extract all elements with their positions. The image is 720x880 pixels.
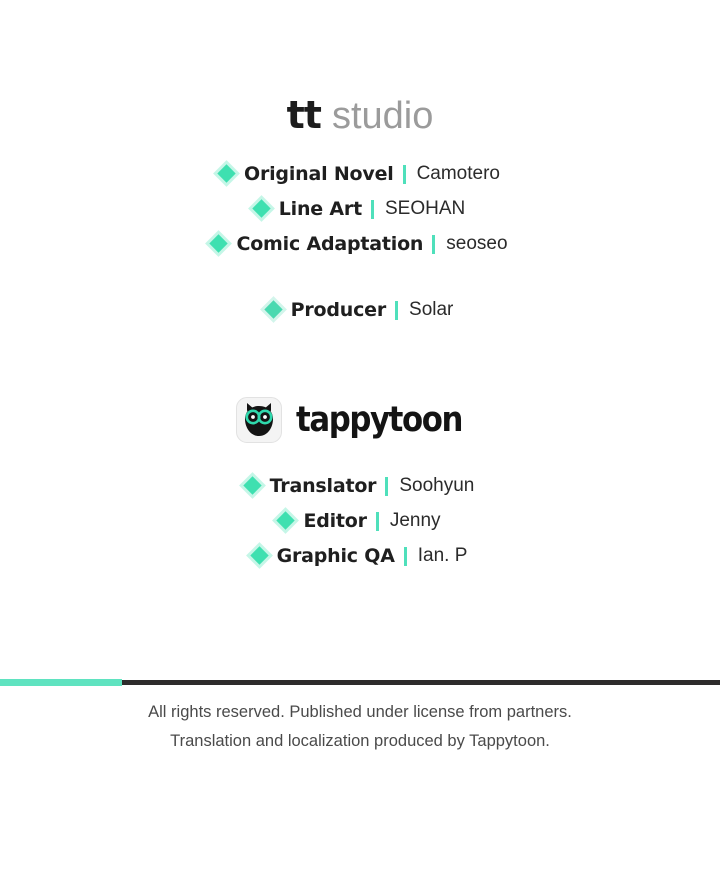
credit-person: Ian. P bbox=[418, 545, 468, 567]
credit-person: Soohyun bbox=[399, 475, 474, 497]
credits-page: tt studio Original Novel Camotero Line A… bbox=[0, 0, 720, 880]
diamond-icon bbox=[252, 199, 270, 217]
credit-separator-icon bbox=[376, 512, 379, 531]
credit-role: Graphic QA bbox=[277, 545, 395, 567]
diamond-icon bbox=[277, 511, 295, 529]
credit-row-line-art: Line Art SEOHAN bbox=[255, 191, 465, 226]
credit-separator-icon bbox=[403, 165, 406, 184]
studio-title: tt studio bbox=[287, 96, 434, 135]
credit-separator-icon bbox=[371, 200, 374, 219]
diamond-icon bbox=[210, 234, 228, 252]
credit-row-translator: Translator Soohyun bbox=[246, 468, 475, 503]
credit-row-comic-adaptation: Comic Adaptation seoseo bbox=[212, 226, 507, 261]
credit-role: Editor bbox=[303, 510, 366, 532]
publisher-logo: tappytoon bbox=[236, 397, 485, 443]
credit-person: seoseo bbox=[446, 233, 507, 255]
credit-separator-icon bbox=[395, 301, 398, 320]
diamond-icon bbox=[264, 300, 282, 318]
credit-role: Comic Adaptation bbox=[236, 233, 423, 255]
studio-title-bold: tt bbox=[287, 96, 321, 134]
credit-row-editor: Editor Jenny bbox=[279, 503, 440, 538]
footer-text: All rights reserved. Published under lic… bbox=[0, 698, 720, 756]
studio-credits-list: Original Novel Camotero Line Art SEOHAN … bbox=[0, 156, 720, 327]
credit-separator-icon bbox=[432, 235, 435, 254]
credit-person: Jenny bbox=[390, 510, 441, 532]
credit-role: Line Art bbox=[279, 198, 362, 220]
publisher-credits-list: Translator Soohyun Editor Jenny Graphic … bbox=[0, 468, 720, 573]
diamond-icon bbox=[243, 476, 261, 494]
tappytoon-cat-icon bbox=[236, 397, 282, 443]
credit-separator-icon bbox=[404, 547, 407, 566]
credit-separator-icon bbox=[385, 477, 388, 496]
footer-divider-teal-segment bbox=[0, 679, 122, 686]
footer-divider bbox=[0, 679, 720, 686]
credit-person: Solar bbox=[409, 299, 453, 321]
credit-row-graphic-qa: Graphic QA Ian. P bbox=[253, 538, 468, 573]
credit-row-original-novel: Original Novel Camotero bbox=[220, 156, 500, 191]
footer-line-localization: Translation and localization produced by… bbox=[0, 727, 720, 756]
credit-person: Camotero bbox=[417, 163, 500, 185]
studio-title-light: studio bbox=[332, 97, 433, 135]
credit-row-producer: Producer Solar bbox=[267, 292, 454, 327]
credit-role: Producer bbox=[291, 299, 386, 321]
tappytoon-wordmark: tappytoon bbox=[296, 403, 462, 438]
footer-divider-dark-segment bbox=[122, 680, 720, 685]
diamond-icon bbox=[250, 546, 268, 564]
credit-role: Translator bbox=[270, 475, 377, 497]
diamond-icon bbox=[217, 164, 235, 182]
credit-person: SEOHAN bbox=[385, 198, 465, 220]
credit-role: Original Novel bbox=[244, 163, 394, 185]
footer-line-rights: All rights reserved. Published under lic… bbox=[0, 698, 720, 727]
